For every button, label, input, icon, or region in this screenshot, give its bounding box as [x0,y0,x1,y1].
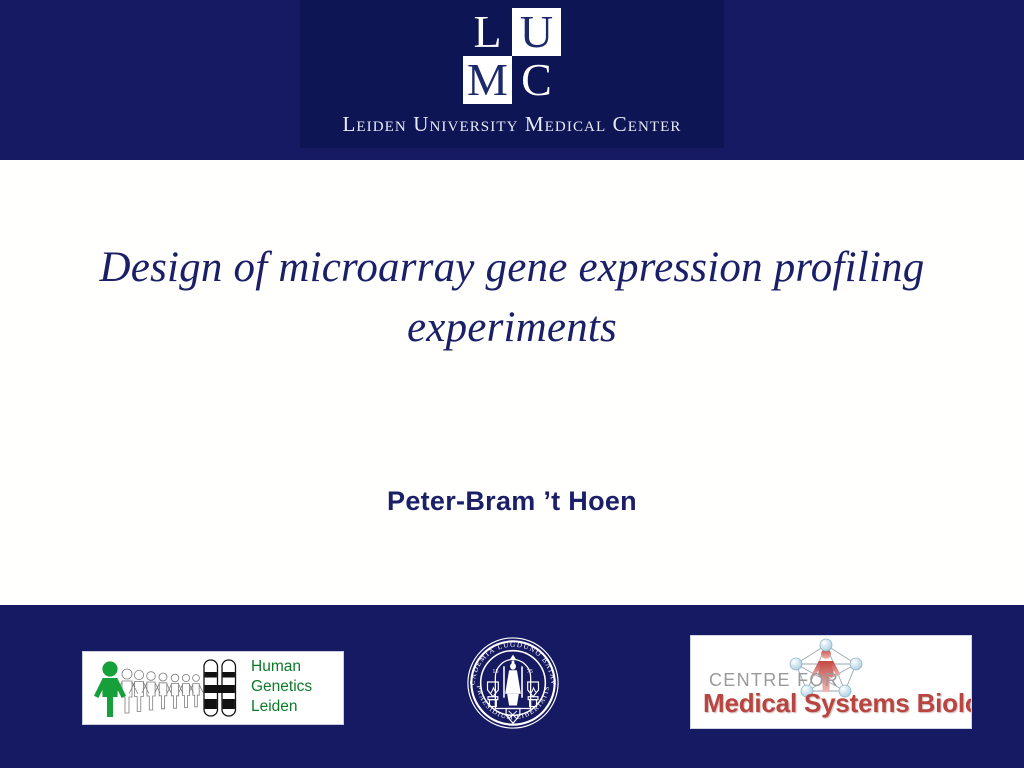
lumc-letter-m-text: M [463,56,512,104]
human-figures-chromosome-graphic [83,652,248,724]
lumc-logo-panel: L U M C Leiden University Medical Center [300,0,724,148]
lumc-letter-u: U [512,8,561,56]
green-human-figure [94,661,126,717]
leiden-university-seal: ACADEMIA LUGDUNO BATAVA PRAESIDIUM LIBER… [464,633,562,733]
seal-year-left: 15 [492,669,498,675]
lumc-letter-c-text: C [512,56,561,104]
lumc-letter-l: L [463,8,512,56]
cmsb-title-label: Medical Systems Biology [703,688,972,719]
author-name: Peter-Bram ’t Hoen [0,486,1024,517]
lumc-letter-u-text: U [512,8,561,56]
hgl-line-1: Human [251,657,312,677]
chromosome-icon [204,660,236,716]
human-genetics-leiden-logo: Human Genetics Leiden [82,651,344,725]
lumc-letter-c: C [512,56,561,104]
lumc-logo-mark: L U M C [463,8,561,104]
hgl-line-2: Genetics [251,677,312,697]
seal-year-right: 75 [527,669,533,675]
lumc-letter-m: M [463,56,512,104]
centre-for-medical-systems-biology-logo: CENTRE FOR Medical Systems Biology [690,635,972,729]
page-title: Design of microarray gene expression pro… [22,238,1002,358]
hgl-line-3: Leiden [251,697,312,717]
lumc-letter-l-text: L [463,8,512,56]
lumc-wordmark: Leiden University Medical Center [300,112,724,137]
header-band: L U M C Leiden University Medical Center [0,0,1024,160]
human-genetics-leiden-label: Human Genetics Leiden [251,657,312,717]
presentation-slide: L U M C Leiden University Medical Center… [0,0,1024,768]
